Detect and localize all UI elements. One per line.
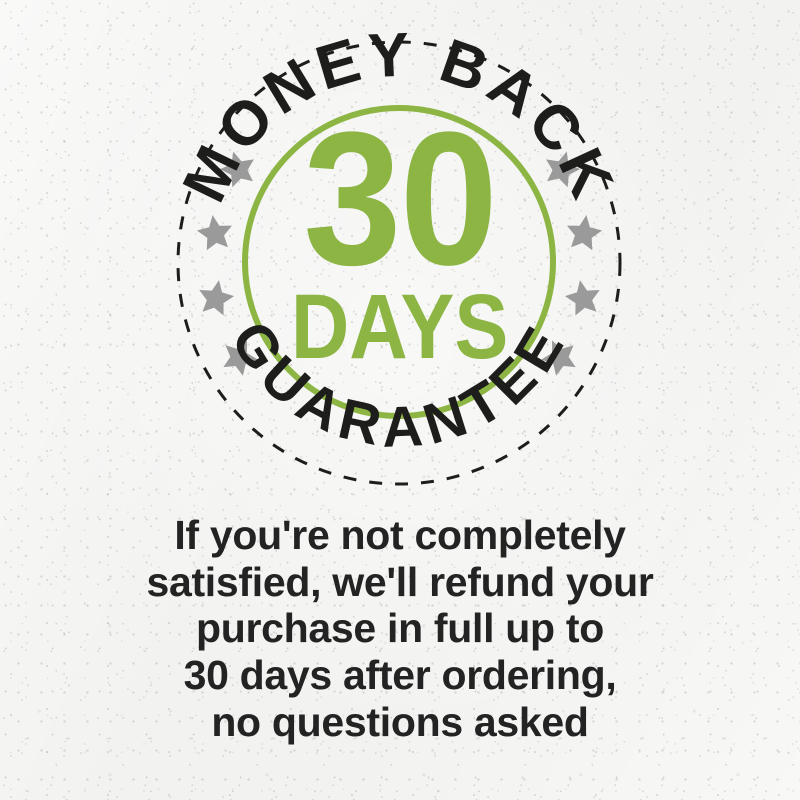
badge-arc-top-text: MONEY BACK — [170, 20, 628, 212]
promise-line: purchase in full up to — [0, 605, 800, 652]
promise-line: no questions asked — [0, 699, 800, 746]
promise-line: satisfied, we'll refund your — [0, 559, 800, 606]
star-icon — [563, 277, 604, 317]
promise-line: If you're not completely — [0, 512, 800, 559]
star-icon — [196, 277, 237, 317]
badge-seal: MONEY BACK GUARANTEE 30 DAYS — [0, 0, 800, 540]
guarantee-promise-text: If you're not completely satisfied, we'l… — [0, 512, 800, 746]
star-icon — [564, 213, 604, 252]
star-icon — [195, 213, 235, 252]
badge-graphics: MONEY BACK GUARANTEE — [0, 0, 800, 540]
promise-line: 30 days after ordering, — [0, 652, 800, 699]
guarantee-badge-page: MONEY BACK GUARANTEE 30 DAYS If you're n… — [0, 0, 800, 800]
badge-arc-bottom-text: GUARANTEE — [218, 311, 579, 460]
